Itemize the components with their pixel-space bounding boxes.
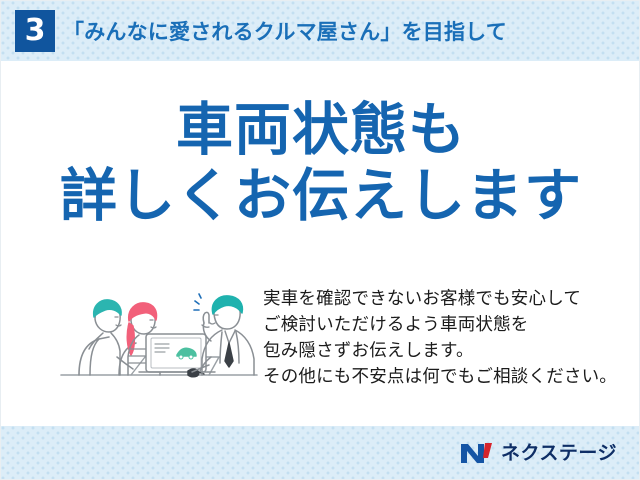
body-line-3: 包み隠さずお伝えします。 — [263, 338, 623, 364]
body-line-4: その他にも不安点は何でもご相談ください。 — [263, 364, 623, 390]
body-line-1: 実車を確認できないお客様でも安心して — [263, 286, 623, 312]
body-line-2: ご検討いただけるよう車両状態を — [263, 312, 623, 338]
nextage-logo-text: ネクステージ — [501, 441, 617, 465]
headline-line-2: 詳しくお伝えします — [1, 163, 640, 229]
body-copy: 実車を確認できないお客様でも安心して ご検討いただけるよう車両状態を 包み隠さず… — [263, 286, 623, 390]
customer-man — [79, 300, 133, 375]
nextage-n-mark-icon — [460, 441, 494, 465]
nextage-logo: ネクステージ — [460, 439, 617, 467]
headline: 車両状態も 詳しくお伝えします — [1, 97, 640, 229]
headline-line-1: 車両状態も — [1, 97, 640, 163]
section-number-badge: 3 — [15, 10, 55, 52]
consultation-illustration — [59, 279, 259, 387]
promo-banner: 3 「みんなに愛されるクルマ屋さん」を目指して 車両状態も 詳しくお伝えします — [0, 0, 640, 480]
header-title: 「みんなに愛されるクルマ屋さん」を目指して — [63, 15, 507, 49]
